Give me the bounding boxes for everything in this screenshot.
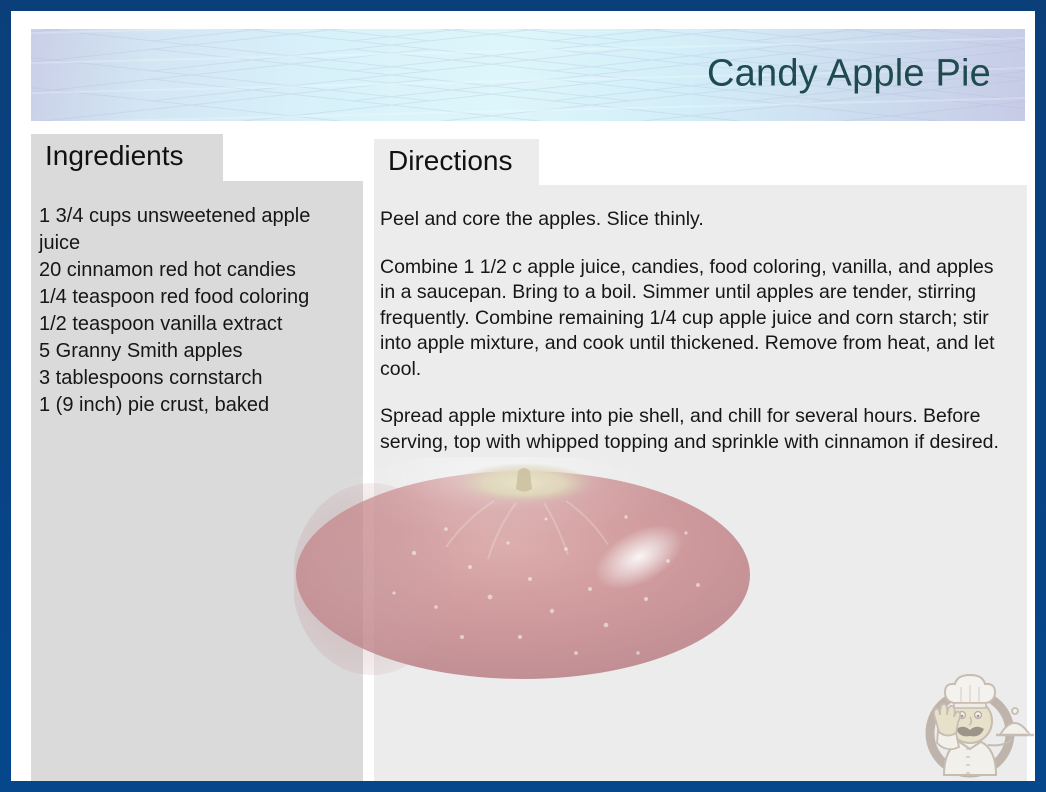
directions-heading-tab: Directions: [374, 139, 539, 185]
recipe-slide: Candy Apple Pie Ingredients 1 3/4 cups u…: [0, 0, 1046, 792]
directions-panel: Peel and core the apples. Slice thinly. …: [374, 185, 1027, 781]
ingredients-heading-tab: Ingredients: [31, 134, 223, 181]
page-title: Candy Apple Pie: [707, 53, 991, 96]
directions-text: Peel and core the apples. Slice thinly. …: [380, 207, 1007, 455]
directions-paragraph: Spread apple mixture into pie shell, and…: [380, 404, 1007, 455]
ingredients-panel: 1 3/4 cups unsweetened apple juice 20 ci…: [31, 181, 363, 781]
title-banner: Candy Apple Pie: [31, 29, 1025, 121]
ingredients-heading-label: Ingredients: [45, 140, 184, 171]
directions-paragraph: Combine 1 1/2 c apple juice, candies, fo…: [380, 255, 1007, 383]
slide-inner-canvas: Candy Apple Pie Ingredients 1 3/4 cups u…: [11, 11, 1035, 781]
ingredients-list: 1 3/4 cups unsweetened apple juice 20 ci…: [39, 203, 345, 419]
directions-heading-label: Directions: [388, 145, 512, 176]
directions-paragraph: Peel and core the apples. Slice thinly.: [380, 207, 1007, 233]
